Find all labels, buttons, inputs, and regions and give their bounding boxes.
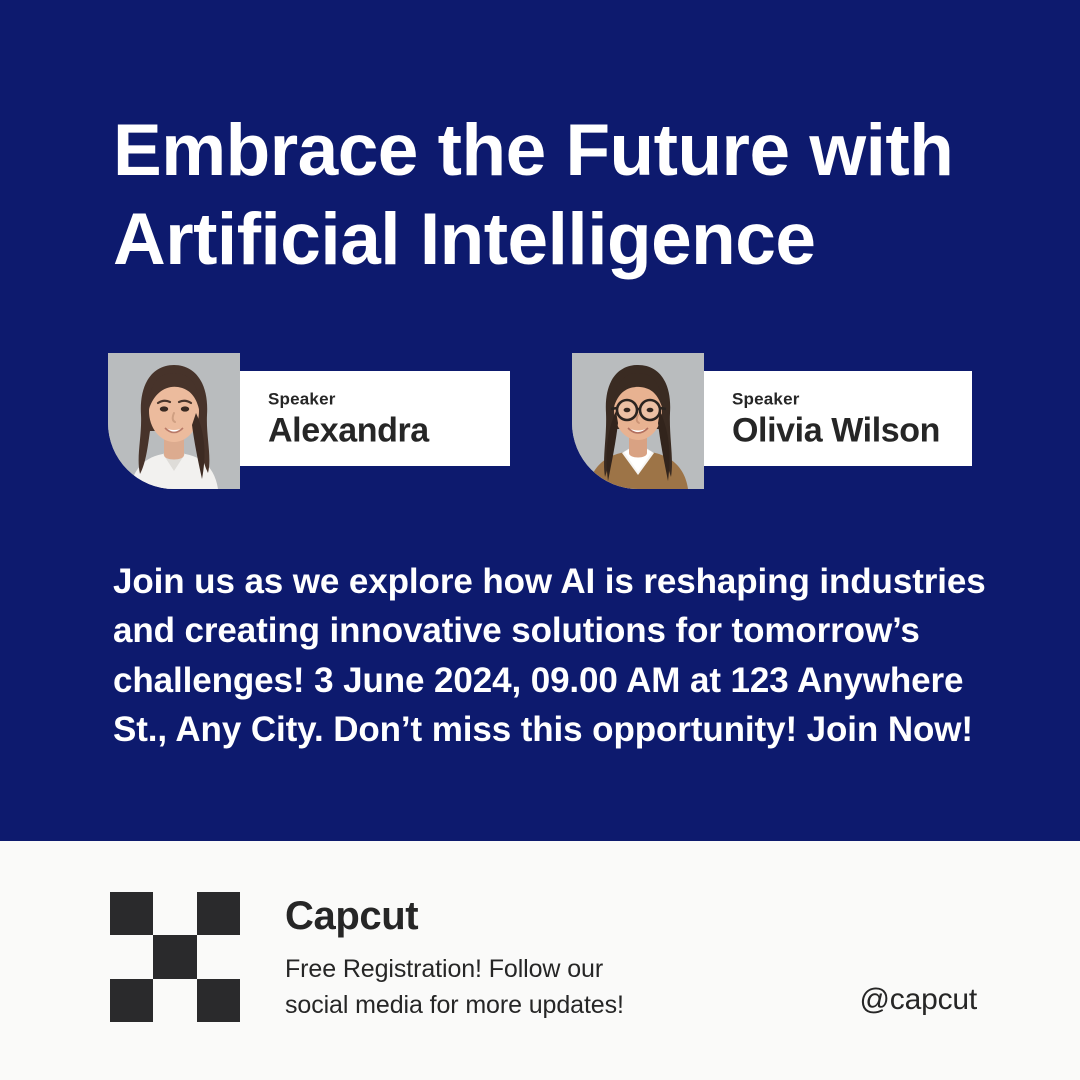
brand-name: Capcut: [285, 893, 765, 939]
logo-cell-5: [153, 935, 196, 978]
speaker-role-label: Speaker: [268, 388, 429, 409]
speaker-name: Olivia Wilson: [732, 411, 940, 449]
tagline-line-2: social media for more updates!: [285, 988, 765, 1024]
logo-cell-2: [153, 892, 196, 935]
description-line-1: Join us as we explore how AI is reshapin…: [113, 557, 983, 606]
logo-cell-3: [197, 892, 240, 935]
logo-cell-1: [110, 892, 153, 935]
speaker-list: Speaker Alexandra: [0, 352, 1080, 492]
speaker-role-label: Speaker: [732, 388, 940, 409]
description-line-4: St., Any City. Don’t miss this opportuni…: [113, 705, 983, 754]
logo-cell-9: [197, 979, 240, 1022]
speaker-photo-olivia-wilson: [572, 353, 704, 489]
event-poster: Embrace the Future with Artificial Intel…: [0, 0, 1080, 1080]
logo-cell-6: [197, 935, 240, 978]
logo-cell-8: [153, 979, 196, 1022]
speaker-card-olivia-wilson[interactable]: Speaker Olivia Wilson: [572, 352, 972, 490]
logo-cell-4: [110, 935, 153, 978]
description-line-3: challenges! 3 June 2024, 09.00 AM at 123…: [113, 656, 983, 705]
checkerboard-x-logo-icon: [110, 892, 240, 1022]
logo-cell-7: [110, 979, 153, 1022]
title-line-2: Artificial Intelligence: [113, 195, 1013, 284]
speaker-namecard-olivia-wilson: Speaker Olivia Wilson: [704, 371, 972, 466]
event-description: Join us as we explore how AI is reshapin…: [113, 557, 983, 754]
speaker-card-alexandra[interactable]: Speaker Alexandra: [108, 352, 510, 490]
page-title: Embrace the Future with Artificial Intel…: [113, 106, 1013, 284]
tagline-line-1: Free Registration! Follow our: [285, 952, 765, 988]
title-line-1: Embrace the Future with: [113, 106, 1013, 195]
description-line-2: and creating innovative solutions for to…: [113, 606, 983, 655]
speaker-photo-alexandra: [108, 353, 240, 489]
brand-block: Capcut Free Registration! Follow our soc…: [285, 893, 765, 1023]
speaker-name: Alexandra: [268, 411, 429, 449]
speaker-namecard-alexandra: Speaker Alexandra: [240, 371, 510, 466]
social-handle[interactable]: @capcut: [860, 983, 977, 1017]
